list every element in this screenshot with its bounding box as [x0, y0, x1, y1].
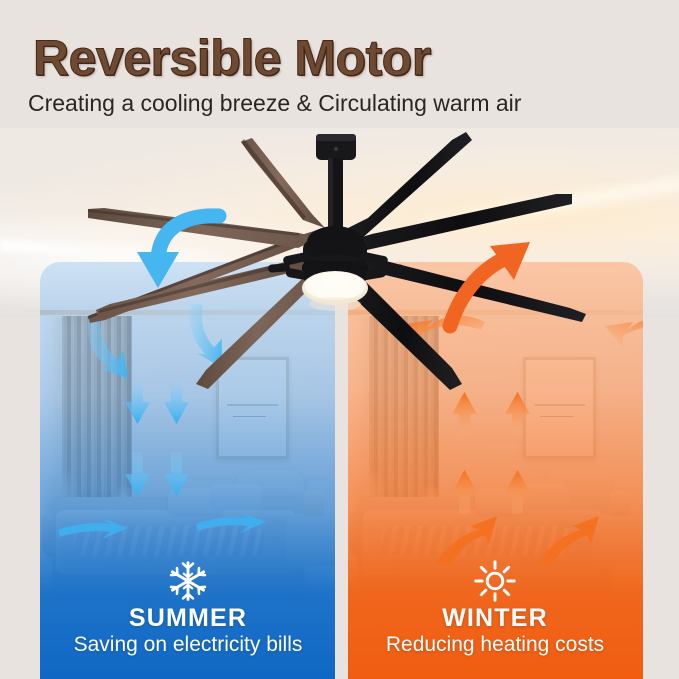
direction-arrows [0, 118, 679, 348]
summer-badge: SUMMER Saving on electricity bills [40, 559, 336, 657]
sun-icon [473, 559, 517, 603]
page-title: Reversible Motor [33, 29, 431, 87]
snowflake-icon [166, 559, 210, 603]
header: Reversible Motor Creating a cooling bree… [0, 0, 679, 128]
winter-badge: WINTER Reducing heating costs [347, 559, 643, 657]
downdraft-arrow [137, 216, 219, 288]
updraft-arrow [450, 242, 530, 326]
summer-description: Saving on electricity bills [40, 633, 336, 657]
product-feature-image: Reversible Motor Creating a cooling bree… [0, 0, 679, 679]
winter-season-label: WINTER [347, 605, 643, 631]
summer-season-label: SUMMER [40, 605, 336, 631]
page-subtitle: Creating a cooling breeze & Circulating … [28, 90, 521, 117]
winter-description: Reducing heating costs [347, 633, 643, 657]
